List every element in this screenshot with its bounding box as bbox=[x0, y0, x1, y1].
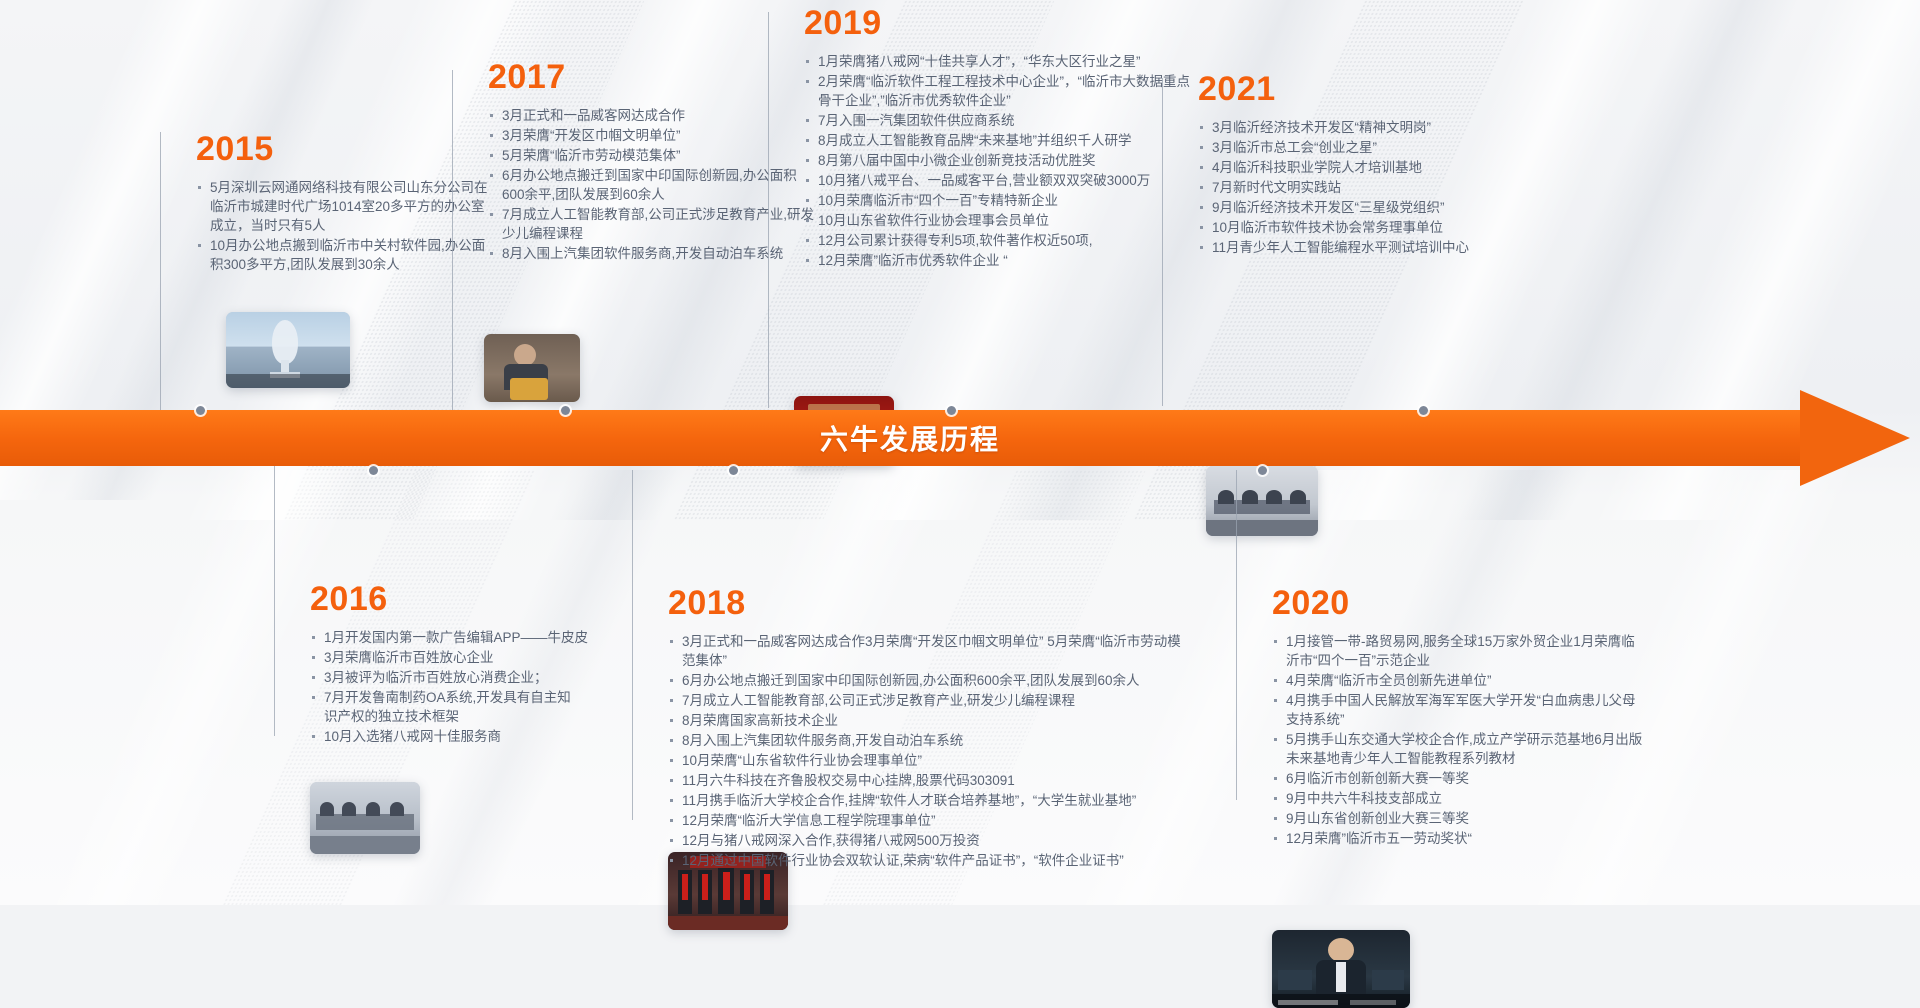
timeline-entry-2021: 2021 3月临沂经济技术开发区“精神文明岗” 3月临沂市总工会“创业之星” 4… bbox=[1198, 72, 1538, 258]
timeline-entry-2018: 2018 3月正式和一品威客网达成合作3月荣膺“开发区巾帼文明单位” 5月荣膺“… bbox=[668, 586, 1248, 871]
list-item: 3月正式和一品威客网达成合作3月荣膺“开发区巾帼文明单位” 5月荣膺“临沂市劳动… bbox=[668, 632, 1248, 670]
timeline-node bbox=[729, 466, 738, 475]
year-label-2015: 2015 bbox=[196, 132, 526, 166]
year-label-2016: 2016 bbox=[310, 582, 650, 616]
list-item: 5月荣膺“临沂市劳动模范集体” bbox=[488, 146, 848, 165]
list-item: 7月开发鲁南制药OA系统,开发具有自主知 识产权的独立技术框架 bbox=[310, 688, 650, 726]
list-item: 6月办公地点搬迁到国家中印国际创新园,办公面积 600余平,团队发展到60余人 bbox=[488, 166, 848, 204]
list-item: 6月临沂市创新创新大赛一等奖 bbox=[1272, 769, 1672, 788]
list-item: 12月与猪八戒网深入合作,获得猪八戒网500万投资 bbox=[668, 831, 1248, 850]
list-item: 1月开发国内第一款广告编辑APP——牛皮皮 bbox=[310, 628, 650, 647]
timeline-node bbox=[1258, 466, 1267, 475]
photo-2016-office-team bbox=[310, 782, 420, 854]
list-item: 4月荣膺“临沂市全员创新先进单位” bbox=[1272, 671, 1672, 690]
timeline-node bbox=[561, 406, 570, 415]
list-item: 8月入围上汽集团软件服务商,开发自动泊车系统 bbox=[668, 731, 1248, 750]
list-item: 11月六牛科技在齐鲁股权交易中心挂牌,股票代码303091 bbox=[668, 771, 1248, 790]
bullet-list-2018: 3月正式和一品威客网达成合作3月荣膺“开发区巾帼文明单位” 5月荣膺“临沂市劳动… bbox=[668, 632, 1248, 870]
list-item: 12月荣膺“临沂大学信息工程学院理事单位” bbox=[668, 811, 1248, 830]
list-item: 3月荣膺“开发区巾帼文明单位” bbox=[488, 126, 848, 145]
list-item: 12月荣膺”临沂市五一劳动奖状“ bbox=[1272, 829, 1672, 848]
bullet-list-2017: 3月正式和一品威客网达成合作 3月荣膺“开发区巾帼文明单位” 5月荣膺“临沂市劳… bbox=[488, 106, 848, 263]
list-item: 9月临沂经济技术开发区“三星级党组织” bbox=[1198, 198, 1538, 217]
photo-2015-award-trophy bbox=[226, 312, 350, 388]
list-item: 4月携手中国人民解放军海军军医大学开发“白血病患儿父母 支持系统” bbox=[1272, 691, 1672, 729]
list-item: 9月中共六牛科技支部成立 bbox=[1272, 789, 1672, 808]
list-item: 10月入选猪八戒网十佳服务商 bbox=[310, 727, 650, 746]
year-label-2017: 2017 bbox=[488, 60, 848, 94]
list-item: 7月成立人工智能教育部,公司正式涉足教育产业,研发少儿编程课程 bbox=[668, 691, 1248, 710]
list-item: 3月荣膺临沂市百姓放心企业 bbox=[310, 648, 650, 667]
year-label-2018: 2018 bbox=[668, 586, 1248, 620]
timeline-node bbox=[947, 406, 956, 415]
year-label-2019: 2019 bbox=[804, 6, 1304, 40]
divider-2018 bbox=[632, 470, 633, 820]
list-item: 5月携手山东交通大学校企合作,成立产学研示范基地6月出版 未来基地青少年人工智能… bbox=[1272, 730, 1672, 768]
list-item: 3月临沂经济技术开发区“精神文明岗” bbox=[1198, 118, 1538, 137]
timeline-node bbox=[369, 466, 378, 475]
list-item: 3月正式和一品威客网达成合作 bbox=[488, 106, 848, 125]
list-item: 12月通过中国软件行业协会双软认证,荣病“软件产品证书”，“软件企业证书” bbox=[668, 851, 1248, 870]
year-label-2021: 2021 bbox=[1198, 72, 1538, 106]
year-label-2020: 2020 bbox=[1272, 586, 1672, 620]
list-item: 1月接管一带-路贸易网,服务全球15万家外贸企业1月荣膺临 沂市“四个一百”示范… bbox=[1272, 632, 1672, 670]
timeline-entry-2015: 2015 5月深圳云网通网络科技有限公司山东分公司在 临沂市城建时代广场1014… bbox=[196, 132, 526, 275]
list-item: 4月临沂科技职业学院人才培训基地 bbox=[1198, 158, 1538, 177]
list-item: 11月青少年人工智能编程水平测试培训中心 bbox=[1198, 238, 1538, 257]
divider-2016 bbox=[274, 466, 275, 736]
list-item: 7月新时代文明实践站 bbox=[1198, 178, 1538, 197]
divider-2019 bbox=[768, 12, 769, 408]
timeline-entry-2020: 2020 1月接管一带-路贸易网,服务全球15万家外贸企业1月荣膺临 沂市“四个… bbox=[1272, 586, 1672, 849]
divider-2017 bbox=[452, 70, 453, 410]
bullet-list-2021: 3月临沂经济技术开发区“精神文明岗” 3月临沂市总工会“创业之星” 4月临沂科技… bbox=[1198, 118, 1538, 257]
list-item: 10月临沂市软件技术协会常务理事单位 bbox=[1198, 218, 1538, 237]
list-item: 3月临沂市总工会“创业之星” bbox=[1198, 138, 1538, 157]
divider-2015 bbox=[160, 132, 161, 410]
banner-title: 六牛发展历程 bbox=[0, 410, 1820, 466]
list-item: 10月办公地点搬到临沂市中关村软件园,办公面 积300多平方,团队发展到30余人 bbox=[196, 236, 526, 274]
bullet-list-2015: 5月深圳云网通网络科技有限公司山东分公司在 临沂市城建时代广场1014室20多平… bbox=[196, 178, 526, 274]
timeline-entry-2017: 2017 3月正式和一品威客网达成合作 3月荣膺“开发区巾帼文明单位” 5月荣膺… bbox=[488, 60, 848, 264]
bullet-list-2016: 1月开发国内第一款广告编辑APP——牛皮皮 3月荣膺临沂市百姓放心企业 3月被评… bbox=[310, 628, 650, 746]
timeline-arrow-banner: 六牛发展历程 bbox=[0, 398, 1920, 478]
list-item: 5月深圳云网通网络科技有限公司山东分公司在 临沂市城建时代广场1014室20多平… bbox=[196, 178, 526, 235]
photo-2017-speaker-podium bbox=[484, 334, 580, 402]
photo-2020-interview-speaker bbox=[1272, 930, 1410, 1008]
list-item: 6月办公地点搬迁到国家中印国际创新园,办公面积600余平,团队发展到60余人 bbox=[668, 671, 1248, 690]
list-item: 3月被评为临沂市百姓放心消费企业； bbox=[310, 668, 650, 687]
list-item: 7月成立人工智能教育部,公司正式涉足教育产业,研发 少儿编程课程 bbox=[488, 205, 848, 243]
list-item: 9月山东省创新创业大赛三等奖 bbox=[1272, 809, 1672, 828]
timeline-node bbox=[196, 406, 205, 415]
list-item: 8月荣膺国家高新技术企业 bbox=[668, 711, 1248, 730]
divider-2021 bbox=[1162, 78, 1163, 406]
list-item: 11月携手临沂大学校企合作,挂牌“软件人才联合培养基地”，“大学生就业基地” bbox=[668, 791, 1248, 810]
timeline-node bbox=[1419, 406, 1428, 415]
list-item: 1月荣膺猪八戒网“十佳共享人才”，“华东大区行业之星” bbox=[804, 52, 1304, 71]
bullet-list-2020: 1月接管一带-路贸易网,服务全球15万家外贸企业1月荣膺临 沂市“四个一百”示范… bbox=[1272, 632, 1672, 848]
divider-2020 bbox=[1236, 470, 1237, 800]
list-item: 8月入围上汽集团软件服务商,开发自动泊车系统 bbox=[488, 244, 848, 263]
list-item: 10月荣膺“山东省软件行业协会理事单位” bbox=[668, 751, 1248, 770]
timeline-entry-2016: 2016 1月开发国内第一款广告编辑APP——牛皮皮 3月荣膺临沂市百姓放心企业… bbox=[310, 582, 650, 747]
